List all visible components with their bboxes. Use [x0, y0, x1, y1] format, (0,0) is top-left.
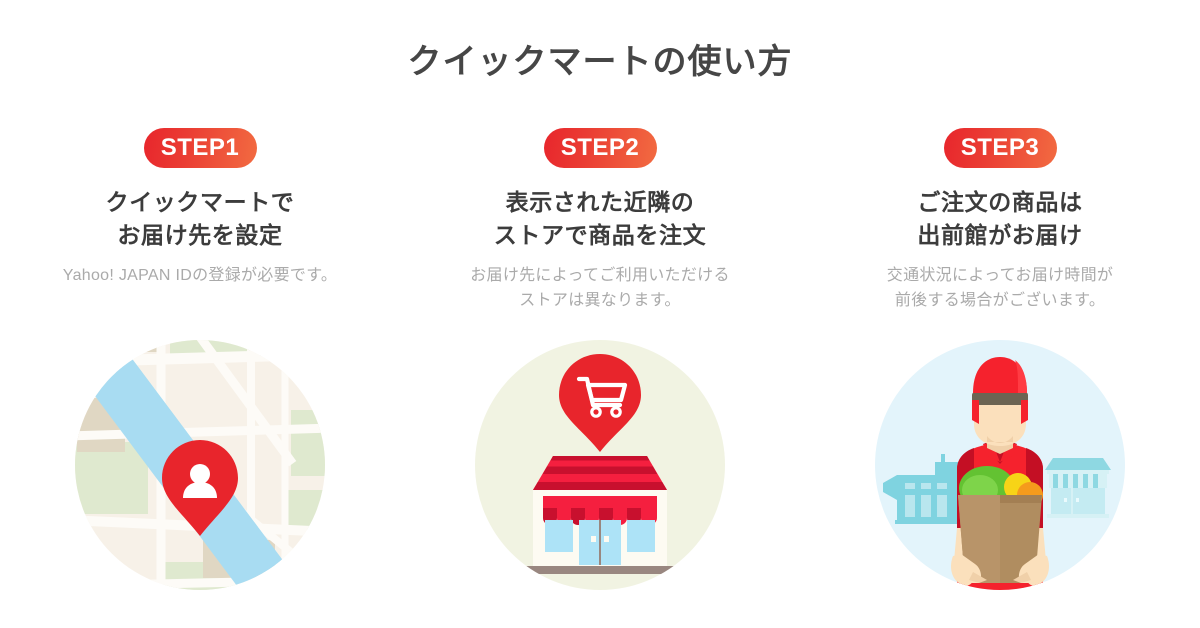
- step-heading-3-line-1: ご注文の商品は: [800, 186, 1200, 219]
- store-roof: [533, 456, 667, 490]
- step-description-3-line-2: 前後する場合がございます。: [800, 289, 1200, 314]
- step-description-1-line-1: Yahoo! JAPAN IDの登録が必要です。: [0, 264, 400, 289]
- map-with-location-pin-illustration: [75, 340, 325, 590]
- step-badge-2: STEP2: [544, 128, 657, 168]
- step-heading-1: クイックマートで お届け先を設定: [0, 186, 400, 251]
- step-heading-1-line-2: お届け先を設定: [0, 219, 400, 252]
- step-column-2: STEP2 表示された近隣の ストアで商品を注文 お届け先によってご利用いただけ…: [400, 128, 800, 628]
- step-heading-3: ご注文の商品は 出前館がお届け: [800, 186, 1200, 251]
- step-column-1: STEP1 クイックマートで お届け先を設定 Yahoo! JAPAN IDの登…: [0, 128, 400, 628]
- step-heading-2: 表示された近隣の ストアで商品を注文: [400, 186, 800, 251]
- steps-container: STEP1 クイックマートで お届け先を設定 Yahoo! JAPAN IDの登…: [0, 128, 1200, 628]
- step-heading-3-line-2: 出前館がお届け: [800, 219, 1200, 252]
- delivery-person-with-grocery-bag-illustration: [875, 340, 1125, 590]
- step-heading-2-line-1: 表示された近隣の: [400, 186, 800, 219]
- step-description-2-line-1: お届け先によってご利用いただける: [400, 264, 800, 289]
- how-to-use-infographic: クイックマートの使い方 STEP1 クイックマートで お届け先を設定 Yahoo…: [0, 0, 1200, 628]
- step-heading-1-line-1: クイックマートで: [0, 186, 400, 219]
- step-badge-1: STEP1: [144, 128, 257, 168]
- step-description-1: Yahoo! JAPAN IDの登録が必要です。: [0, 264, 400, 289]
- step-description-2: お届け先によってご利用いただける ストアは異なります。: [400, 264, 800, 314]
- step-description-3-line-1: 交通状況によってお届け時間が: [800, 264, 1200, 289]
- step-description-2-line-2: ストアは異なります。: [400, 289, 800, 314]
- storefront-with-cart-pin-illustration: [475, 340, 725, 590]
- step-column-3: STEP3 ご注文の商品は 出前館がお届け 交通状況によってお届け時間が 前後す…: [800, 128, 1200, 628]
- background-building-right: [1045, 458, 1111, 518]
- delivery-person-head: [972, 357, 1028, 446]
- step-description-3: 交通状況によってお届け時間が 前後する場合がございます。: [800, 264, 1200, 314]
- step-heading-2-line-2: ストアで商品を注文: [400, 219, 800, 252]
- page-title: クイックマートの使い方: [0, 42, 1200, 83]
- step-badge-3: STEP3: [944, 128, 1057, 168]
